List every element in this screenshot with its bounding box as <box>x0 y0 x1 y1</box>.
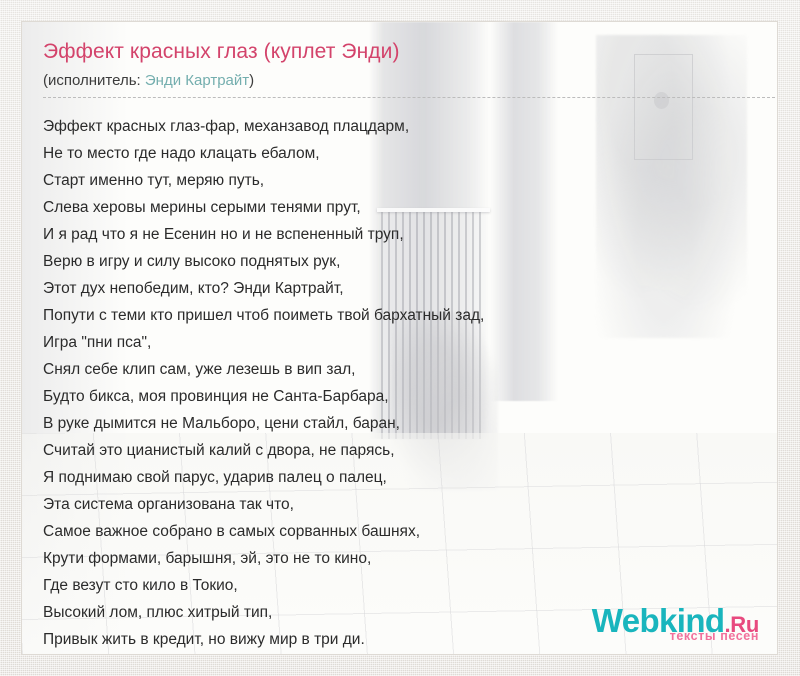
lyrics-body: Эффект красных глаз-фар, механзавод плац… <box>43 113 757 653</box>
lyric-line: Этот дух непобедим, кто? Энди Картрайт, <box>43 275 757 302</box>
lyric-line: Старт именно тут, меряю путь, <box>43 167 757 194</box>
lyric-line: Крути формами, барышня, эй, это не то ки… <box>43 545 757 572</box>
lyric-line: Эффект красных глаз-фар, механзавод плац… <box>43 113 757 140</box>
lyric-line: В руке дымится не Мальборо, цени стайл, … <box>43 410 757 437</box>
artist-paren-close: ) <box>249 72 254 89</box>
artist-label: (исполнитель: <box>43 72 145 89</box>
lyric-line: Я поднимаю свой парус, ударив палец о па… <box>43 464 757 491</box>
lyric-line: Будто бикса, моя провинция не Санта-Барб… <box>43 383 757 410</box>
panel-content: Эффект красных глаз (куплет Энди) (испол… <box>22 22 777 653</box>
lyric-line: Эта система организована так что, <box>43 491 757 518</box>
artist-line: (исполнитель: Энди Картрайт) <box>43 71 757 90</box>
lyric-line: Где везут сто кило в Токио, <box>43 572 757 599</box>
artist-link[interactable]: Энди Картрайт <box>145 72 249 89</box>
page-title: Эффект красных глаз (куплет Энди) <box>43 38 757 66</box>
lyric-line: Считай это цианистый калий с двора, не п… <box>43 437 757 464</box>
lyric-line: Не то место где надо клацать ебалом, <box>43 140 757 167</box>
header-divider <box>43 97 778 98</box>
lyric-line: Снял себе клип сам, уже лезешь в вип зал… <box>43 356 757 383</box>
lyric-line: И я рад что я не Есенин но и не вспененн… <box>43 221 757 248</box>
lyric-line: Игра "пни пса", <box>43 329 757 356</box>
lyric-line: Попути с теми кто пришел чтоб поиметь тв… <box>43 302 757 329</box>
site-logo[interactable]: Webkind.Ru тексты песен <box>592 604 759 643</box>
content-panel: Эффект красных глаз (куплет Энди) (испол… <box>21 21 778 655</box>
lyric-line: Самое важное собрано в самых сорванных б… <box>43 518 757 545</box>
lyric-line: Слева херовы мерины серыми тенями прут, <box>43 194 757 221</box>
lyric-line: Верю в игру и силу высоко поднятых рук, <box>43 248 757 275</box>
